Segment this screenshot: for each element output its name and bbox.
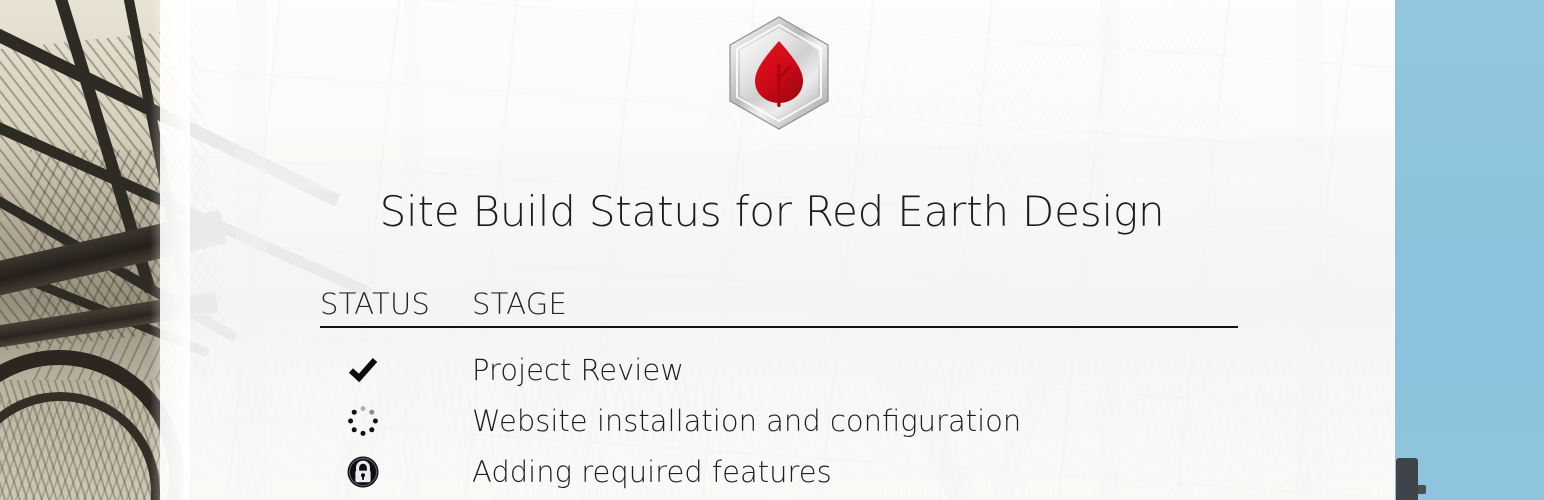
status-table: STATUS STAGE Project Review: [320, 286, 1238, 497]
app-root: Site Build Status for Red Earth Design S…: [0, 0, 1544, 500]
header-divider: [320, 326, 1238, 328]
check-icon: [346, 353, 380, 387]
table-row: Website installation and configuration: [320, 395, 1238, 446]
table-row: Adding required features: [320, 446, 1238, 497]
stage-label: Project Review: [472, 352, 1238, 388]
stage-label: Adding required features: [472, 454, 1238, 490]
table-body: Project Review: [320, 344, 1238, 497]
status-cell: [320, 455, 472, 489]
page-title: Site Build Status for Red Earth Design: [0, 185, 1544, 239]
table-header-row: STATUS STAGE: [320, 286, 1238, 322]
page-content: Site Build Status for Red Earth Design S…: [0, 0, 1544, 500]
lock-circle-icon: [346, 455, 380, 489]
status-cell: [320, 353, 472, 387]
stage-label: Website installation and configuration: [472, 403, 1238, 439]
column-header-status: STATUS: [320, 286, 472, 322]
status-cell: [320, 404, 472, 438]
spinner-dots-icon: [346, 404, 380, 438]
table-row: Project Review: [320, 344, 1238, 395]
column-header-stage: STAGE: [472, 286, 1238, 322]
hexagon-leaf-badge-icon: [724, 14, 834, 132]
